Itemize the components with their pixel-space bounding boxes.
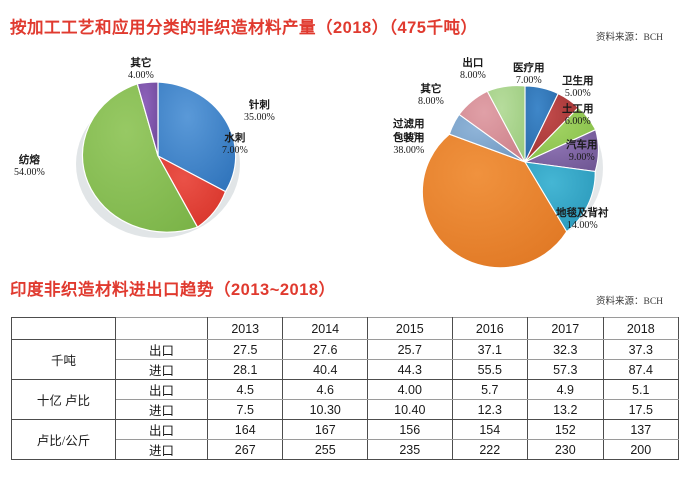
pie-chart-by-process-svg <box>58 78 258 240</box>
pie1-label-spunlace: 水刺 7.00% <box>222 133 248 156</box>
table-cell: 200 <box>603 440 679 460</box>
pie1-label-needlepunch-value: 35.00% <box>244 112 275 123</box>
table-col-header-2013: 2013 <box>208 318 283 340</box>
table-cell: 156 <box>368 420 453 440</box>
pie2-label-filtration-value: 5.00% <box>393 131 425 142</box>
table-direction-label: 进口 <box>116 440 208 460</box>
table-cell: 57.3 <box>528 360 603 380</box>
pie2-label-carpet-backing-value: 14.00% <box>556 220 609 231</box>
pie1-label-other-name: 其它 <box>128 58 154 70</box>
table-cell: 267 <box>208 440 283 460</box>
table-col-header-2016: 2016 <box>452 318 527 340</box>
table-cell: 87.4 <box>603 360 679 380</box>
table-cell: 12.3 <box>452 400 527 420</box>
table-cell: 37.3 <box>603 340 679 360</box>
table-cell: 5.1 <box>603 380 679 400</box>
table-row: 卢比/公斤 出口 164 167 156 154 152 137 <box>12 420 679 440</box>
pie1-label-spunmelt-value: 54.00% <box>14 167 45 178</box>
table-unit-label-1: 十亿 卢比 <box>12 380 116 420</box>
table-direction-label: 出口 <box>116 340 208 360</box>
table-cell: 27.5 <box>208 340 283 360</box>
table-body: 千吨 出口 27.5 27.6 25.7 37.1 32.3 37.3 进口 2… <box>12 340 679 460</box>
pie2-label-automotive: 汽车用 9.00% <box>566 140 598 163</box>
table-row: 十亿 卢比 出口 4.5 4.6 4.00 5.7 4.9 5.1 <box>12 380 679 400</box>
table-cell: 55.5 <box>452 360 527 380</box>
table-unit-label-0: 千吨 <box>12 340 116 380</box>
table-cell: 28.1 <box>208 360 283 380</box>
trade-trend-source: 资料来源：BCH <box>596 293 663 307</box>
table-cell: 4.00 <box>368 380 453 400</box>
pie1-label-needlepunch: 针刺 35.00% <box>244 100 275 123</box>
table-cell: 152 <box>528 420 603 440</box>
table-cell: 44.3 <box>368 360 453 380</box>
pie2-label-export-name: 出口 <box>460 58 486 70</box>
pie2-label-packaging-value: 38.00% <box>393 145 425 156</box>
pie2-label-other-value: 8.00% <box>418 96 444 107</box>
pie-chart-by-process <box>58 78 258 240</box>
pie2-label-medical-name: 医疗用 <box>513 63 545 75</box>
table-cell: 27.6 <box>283 340 368 360</box>
table-row: 千吨 出口 27.5 27.6 25.7 37.1 32.3 37.3 <box>12 340 679 360</box>
pie2-label-hygiene-name: 卫生用 <box>562 76 594 88</box>
table-cell: 7.5 <box>208 400 283 420</box>
table-direction-label: 进口 <box>116 400 208 420</box>
table-corner-cell <box>12 318 116 340</box>
table-cell: 40.4 <box>283 360 368 380</box>
pie2-label-automotive-value: 9.00% <box>566 152 598 163</box>
pie1-label-spunlace-value: 7.00% <box>222 145 248 156</box>
table-cell: 137 <box>603 420 679 440</box>
table-cell: 4.9 <box>528 380 603 400</box>
pie2-label-hygiene: 卫生用 5.00% <box>562 76 594 99</box>
pie2-label-medical: 医疗用 7.00% <box>513 63 545 86</box>
pie1-label-other-value: 4.00% <box>128 70 154 81</box>
table-col-header-2018: 2018 <box>603 318 679 340</box>
pie2-label-geotextile: 土工用 6.00% <box>562 104 594 127</box>
table-cell: 235 <box>368 440 453 460</box>
trade-trend-table: 2013 2014 2015 2016 2017 2018 千吨 出口 27.5… <box>11 317 679 460</box>
table-cell: 17.5 <box>603 400 679 420</box>
table-cell: 13.2 <box>528 400 603 420</box>
pie2-label-export: 出口 8.00% <box>460 58 486 81</box>
pie2-label-other: 其它 8.00% <box>418 84 444 107</box>
pie2-label-other-name: 其它 <box>418 84 444 96</box>
pie2-label-filtration: 过滤用 5.00% <box>393 119 425 142</box>
pie2-label-carpet-backing: 地毯及背衬 14.00% <box>556 208 609 231</box>
table-head: 2013 2014 2015 2016 2017 2018 <box>12 318 679 340</box>
table-direction-label: 进口 <box>116 360 208 380</box>
pie1-label-spunlace-name: 水刺 <box>222 133 248 145</box>
table-col-header-2014: 2014 <box>283 318 368 340</box>
table-cell: 4.6 <box>283 380 368 400</box>
pie1-label-other: 其它 4.00% <box>128 58 154 81</box>
table-unit-label-2: 卢比/公斤 <box>12 420 116 460</box>
table-direction-label: 出口 <box>116 380 208 400</box>
table-direction-label: 出口 <box>116 420 208 440</box>
pie1-label-needlepunch-name: 针刺 <box>244 100 275 112</box>
pie2-label-filtration-name: 过滤用 <box>393 119 425 131</box>
table-cell: 154 <box>452 420 527 440</box>
pie2-label-geotextile-value: 6.00% <box>562 116 594 127</box>
table-corner-cell-2 <box>116 318 208 340</box>
table-cell: 32.3 <box>528 340 603 360</box>
pie2-label-medical-value: 7.00% <box>513 75 545 86</box>
production-chart-source: 资料来源：BCH <box>596 29 663 43</box>
table-cell: 164 <box>208 420 283 440</box>
table-cell: 25.7 <box>368 340 453 360</box>
pie2-label-carpet-backing-name: 地毯及背衬 <box>556 208 609 220</box>
table-col-header-2017: 2017 <box>528 318 603 340</box>
production-chart-title: 按加工工艺和应用分类的非织造材料产量（2018）（475千吨） <box>10 14 478 38</box>
pie2-label-automotive-name: 汽车用 <box>566 140 598 152</box>
table-col-header-2015: 2015 <box>368 318 453 340</box>
table-cell: 5.7 <box>452 380 527 400</box>
pie1-label-spunmelt: 纺熔 54.00% <box>14 155 45 178</box>
pie2-label-export-value: 8.00% <box>460 70 486 81</box>
table-cell: 10.30 <box>283 400 368 420</box>
pie2-label-geotextile-name: 土工用 <box>562 104 594 116</box>
table-cell: 255 <box>283 440 368 460</box>
table-header-row: 2013 2014 2015 2016 2017 2018 <box>12 318 679 340</box>
table-cell: 10.40 <box>368 400 453 420</box>
table-cell: 4.5 <box>208 380 283 400</box>
table-cell: 230 <box>528 440 603 460</box>
table-cell: 167 <box>283 420 368 440</box>
trade-trend-title: 印度非织造材料进出口趋势（2013~2018） <box>10 276 336 300</box>
table-cell: 222 <box>452 440 527 460</box>
table-cell: 37.1 <box>452 340 527 360</box>
pie2-label-hygiene-value: 5.00% <box>562 88 594 99</box>
pie1-label-spunmelt-name: 纺熔 <box>14 155 45 167</box>
